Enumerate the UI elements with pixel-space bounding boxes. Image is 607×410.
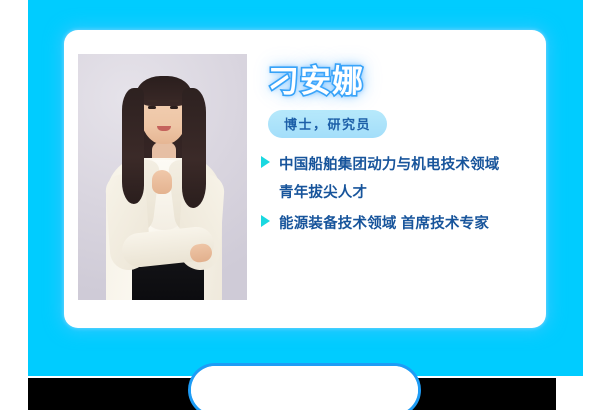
person-name: 刁安娜 [268,60,364,104]
credentials-list: 中国船舶集团动力与机电技术领域 青年拔尖人才 能源装备技术领域 首席技术专家 [260,151,534,238]
person-eye-left [148,106,156,109]
portrait-photo [78,54,247,300]
credential-badge: 博士，研究员 [268,110,387,138]
credential-line: 能源装备技术领域 首席技术专家 [279,210,534,238]
person-eyebrow-left [147,100,157,102]
person-hand-raised [152,170,172,194]
bottom-pill-button[interactable] [191,366,418,410]
list-item: 能源装备技术领域 首席技术专家 [260,210,534,238]
person-hair-left [122,88,144,204]
person-hair-right [182,88,206,208]
profile-info-column: 刁安娜 博士，研究员 中国船舶集团动力与机电技术领域 青年拔尖人才 能源装备技术… [260,60,534,241]
credential-line: 青年拔尖人才 [279,179,534,207]
credential-line: 中国船舶集团动力与机电技术领域 [279,151,534,179]
person-eyebrow-right [169,100,179,102]
triangle-right-icon [261,215,270,227]
bottom-pill-surface [191,366,418,410]
name-heading-wrapper: 刁安娜 [260,60,534,104]
person-eye-right [170,106,178,109]
profile-card: 刁安娜 博士，研究员 中国船舶集团动力与机电技术领域 青年拔尖人才 能源装备技术… [64,30,546,328]
list-item: 中国船舶集团动力与机电技术领域 青年拔尖人才 [260,151,534,207]
triangle-right-icon [261,156,270,168]
slide-canvas: 刁安娜 博士，研究员 中国船舶集团动力与机电技术领域 青年拔尖人才 能源装备技术… [0,0,607,410]
